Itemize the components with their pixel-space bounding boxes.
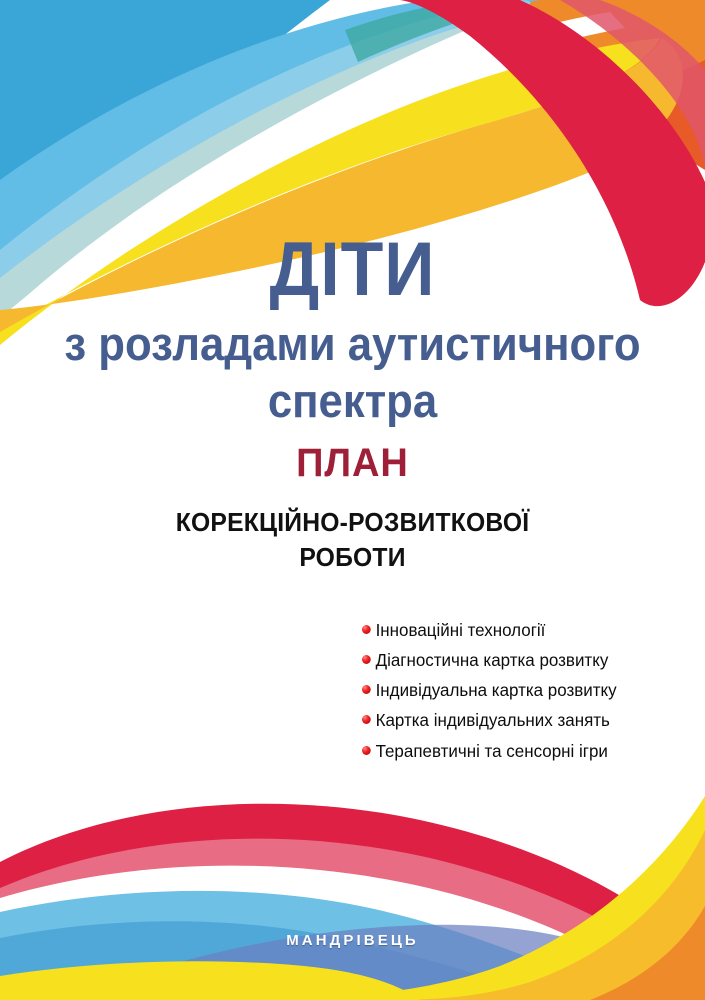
cover-text-stack: ДІТИ з розладами аутистичного спектра ПЛ…	[0, 0, 705, 1000]
subtitle-line-1: з розладами аутистичного	[25, 315, 681, 372]
red-sphere-bullet-icon	[362, 685, 371, 694]
feature-label: Інноваційні технології	[376, 620, 546, 641]
feature-label: Індивідуальна картка розвитку	[376, 680, 617, 701]
list-item: Індивідуальна картка розвитку	[362, 680, 653, 701]
page-title: ДІТИ	[28, 232, 677, 308]
red-sphere-bullet-icon	[362, 715, 371, 724]
list-item: Діагностична картка розвитку	[362, 650, 653, 671]
feature-list: Інноваційні технології Діагностична карт…	[362, 620, 662, 771]
subtitle: з розладами аутистичного спектра	[25, 315, 681, 430]
publisher-logo: МАНДРІВЕЦЬ	[0, 932, 705, 949]
feature-label: Картка індивідуальних занять	[376, 710, 610, 731]
feature-label: Діагностична картка розвитку	[376, 650, 609, 671]
plan-description-line-2: РОБОТИ	[18, 540, 688, 575]
plan-heading: ПЛАН	[18, 443, 688, 483]
list-item: Картка індивідуальних занять	[362, 710, 653, 731]
list-item: Терапевтичні та сенсорні ігри	[362, 741, 653, 762]
red-sphere-bullet-icon	[362, 746, 371, 755]
plan-description: КОРЕКЦІЙНО-РОЗВИТКОВОЇ РОБОТИ	[18, 505, 688, 575]
list-item: Інноваційні технології	[362, 620, 653, 641]
subtitle-line-2: спектра	[25, 372, 681, 429]
feature-label: Терапевтичні та сенсорні ігри	[376, 741, 608, 762]
red-sphere-bullet-icon	[362, 655, 371, 664]
plan-description-line-1: КОРЕКЦІЙНО-РОЗВИТКОВОЇ	[18, 505, 688, 540]
red-sphere-bullet-icon	[362, 625, 371, 634]
book-cover: ДІТИ з розладами аутистичного спектра ПЛ…	[0, 0, 705, 1000]
